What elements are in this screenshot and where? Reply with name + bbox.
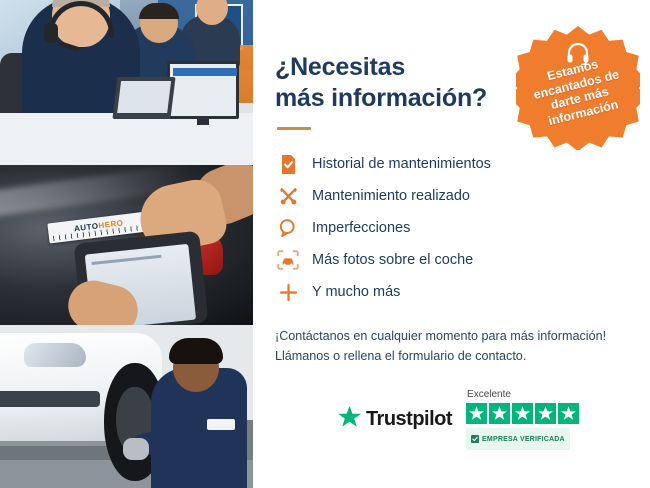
call-center-agents-photo <box>0 0 253 165</box>
rating-star-icon <box>535 403 556 424</box>
technician-glove <box>123 438 149 460</box>
headline-line-2: más información? <box>275 84 487 112</box>
rating-star-icon <box>512 403 533 424</box>
verified-check-icon <box>471 430 479 448</box>
rating-star-icon <box>558 403 579 424</box>
car-inspection-ruler-photo: AUTOHERO <box>0 165 253 325</box>
wheel-inspection-photo <box>0 325 253 488</box>
feature-list: Historial de mantenimientos Mantenimient… <box>275 148 628 308</box>
list-item-label: Historial de mantenimientos <box>312 156 491 172</box>
list-item-label: Mantenimiento realizado <box>312 188 470 204</box>
car-grille <box>0 391 100 407</box>
list-item: Más fotos sobre el coche <box>275 244 628 276</box>
contact-line-1: ¡Contáctanos en cualquier momento para m… <box>275 326 628 346</box>
tools-icon <box>275 186 301 207</box>
list-item-label: Imperfecciones <box>312 220 410 236</box>
car-camera-icon <box>275 250 301 270</box>
trustpilot-logo: Trustpilot <box>338 406 452 433</box>
laptop <box>112 77 175 119</box>
rating-star-icon <box>466 403 487 424</box>
list-item-label: Y mucho más <box>312 284 400 300</box>
verified-label: EMPRESA VERIFICADA <box>482 436 565 443</box>
title-divider <box>277 127 311 130</box>
car-headlight <box>24 343 86 367</box>
list-item-label: Más fotos sobre el coche <box>312 252 473 268</box>
rating-star-icon <box>489 403 510 424</box>
trustpilot-block: Trustpilot Excelente <box>253 389 650 450</box>
trustpilot-wordmark: Trustpilot <box>366 408 452 431</box>
technician-logo-patch <box>207 419 235 430</box>
list-item: Mantenimiento realizado <box>275 180 628 212</box>
headline-line-1: ¿Necesitas <box>275 53 405 81</box>
rating-label: Excelente <box>467 389 511 400</box>
plus-icon <box>275 283 301 302</box>
info-badge: Estamos encantados de darte más informac… <box>516 26 640 150</box>
trustpilot-rating: Excelente EMPRESA VERIFICADA <box>466 389 579 450</box>
trustpilot-star-icon <box>338 406 361 433</box>
tablet-screen-line <box>92 255 162 265</box>
list-item: Y mucho más <box>275 276 628 308</box>
magnifier-icon <box>275 218 301 238</box>
photo-column: AUTOHERO <box>0 0 253 488</box>
star-rating <box>466 403 579 424</box>
front-desk <box>0 113 253 165</box>
list-item: Historial de mantenimientos <box>275 148 628 180</box>
contact-line-2: Llámanos o rellena el formulario de cont… <box>275 346 628 366</box>
monitor-screen-header <box>173 68 237 76</box>
contact-info-banner: AUTOHERO <box>0 0 650 488</box>
headset-earcup <box>44 23 58 43</box>
document-check-icon <box>275 154 301 175</box>
list-item: Imperfecciones <box>275 212 628 244</box>
desktop-monitor <box>167 61 239 119</box>
laptop-screen <box>117 81 171 113</box>
content-panel: Estamos encantados de darte más informac… <box>253 0 650 488</box>
technician-hair <box>169 338 223 364</box>
contact-text: ¡Contáctanos en cualquier momento para m… <box>275 326 628 367</box>
verified-badge: EMPRESA VERIFICADA <box>466 428 570 450</box>
